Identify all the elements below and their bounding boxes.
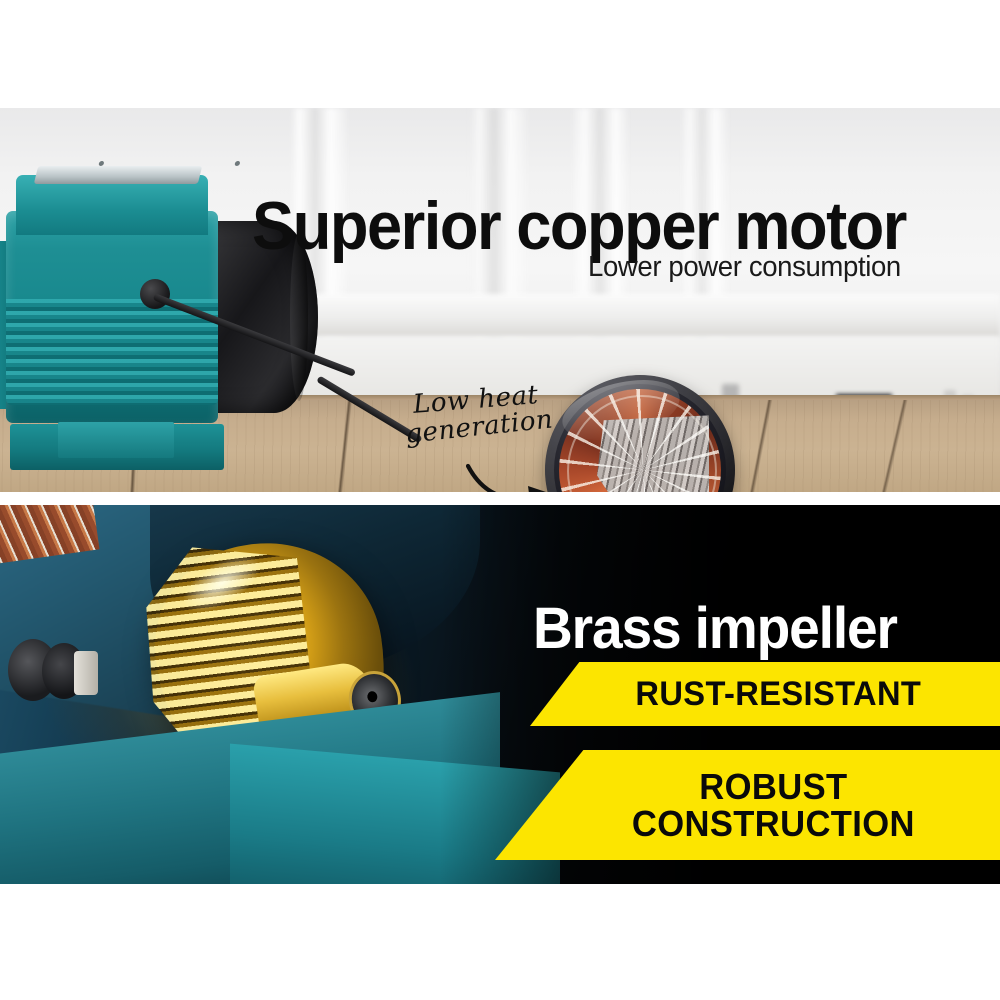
- page-title-brass-impeller: Brass impeller: [533, 600, 897, 658]
- panel-divider: [0, 492, 1000, 505]
- feature-banner-rust-resistant: RUST-RESISTANT: [530, 662, 1000, 726]
- banner-label-line-2: CONSTRUCTION: [632, 805, 915, 842]
- product-feature-page: Low heat generation Superior copper moto…: [0, 0, 1000, 1000]
- feature-banner-robust-construction: ROBUST CONSTRUCTION: [495, 750, 1000, 860]
- shaft-bearing-assembly: [0, 633, 120, 725]
- banner-label: RUST-RESISTANT: [636, 675, 922, 714]
- curved-arrow-icon: [466, 460, 558, 492]
- mechanical-seal: [74, 651, 98, 695]
- stator-rim: [545, 375, 735, 492]
- cooling-fins: [6, 299, 218, 405]
- page-title-superior-copper-motor: Superior copper motor: [252, 192, 906, 260]
- subtitle-lower-power-consumption: Lower power consumption: [588, 253, 901, 282]
- motor-stator-cutaway: [545, 375, 735, 492]
- banner-label-line-1: ROBUST: [632, 768, 915, 805]
- terminal-box: [16, 175, 208, 235]
- pump-base-plate: [58, 422, 174, 458]
- panel-superior-copper-motor: Low heat generation: [0, 108, 1000, 492]
- banner-label-group: ROBUST CONSTRUCTION: [626, 768, 921, 843]
- screw-icon: [98, 161, 104, 166]
- terminal-box-lid: [34, 166, 202, 184]
